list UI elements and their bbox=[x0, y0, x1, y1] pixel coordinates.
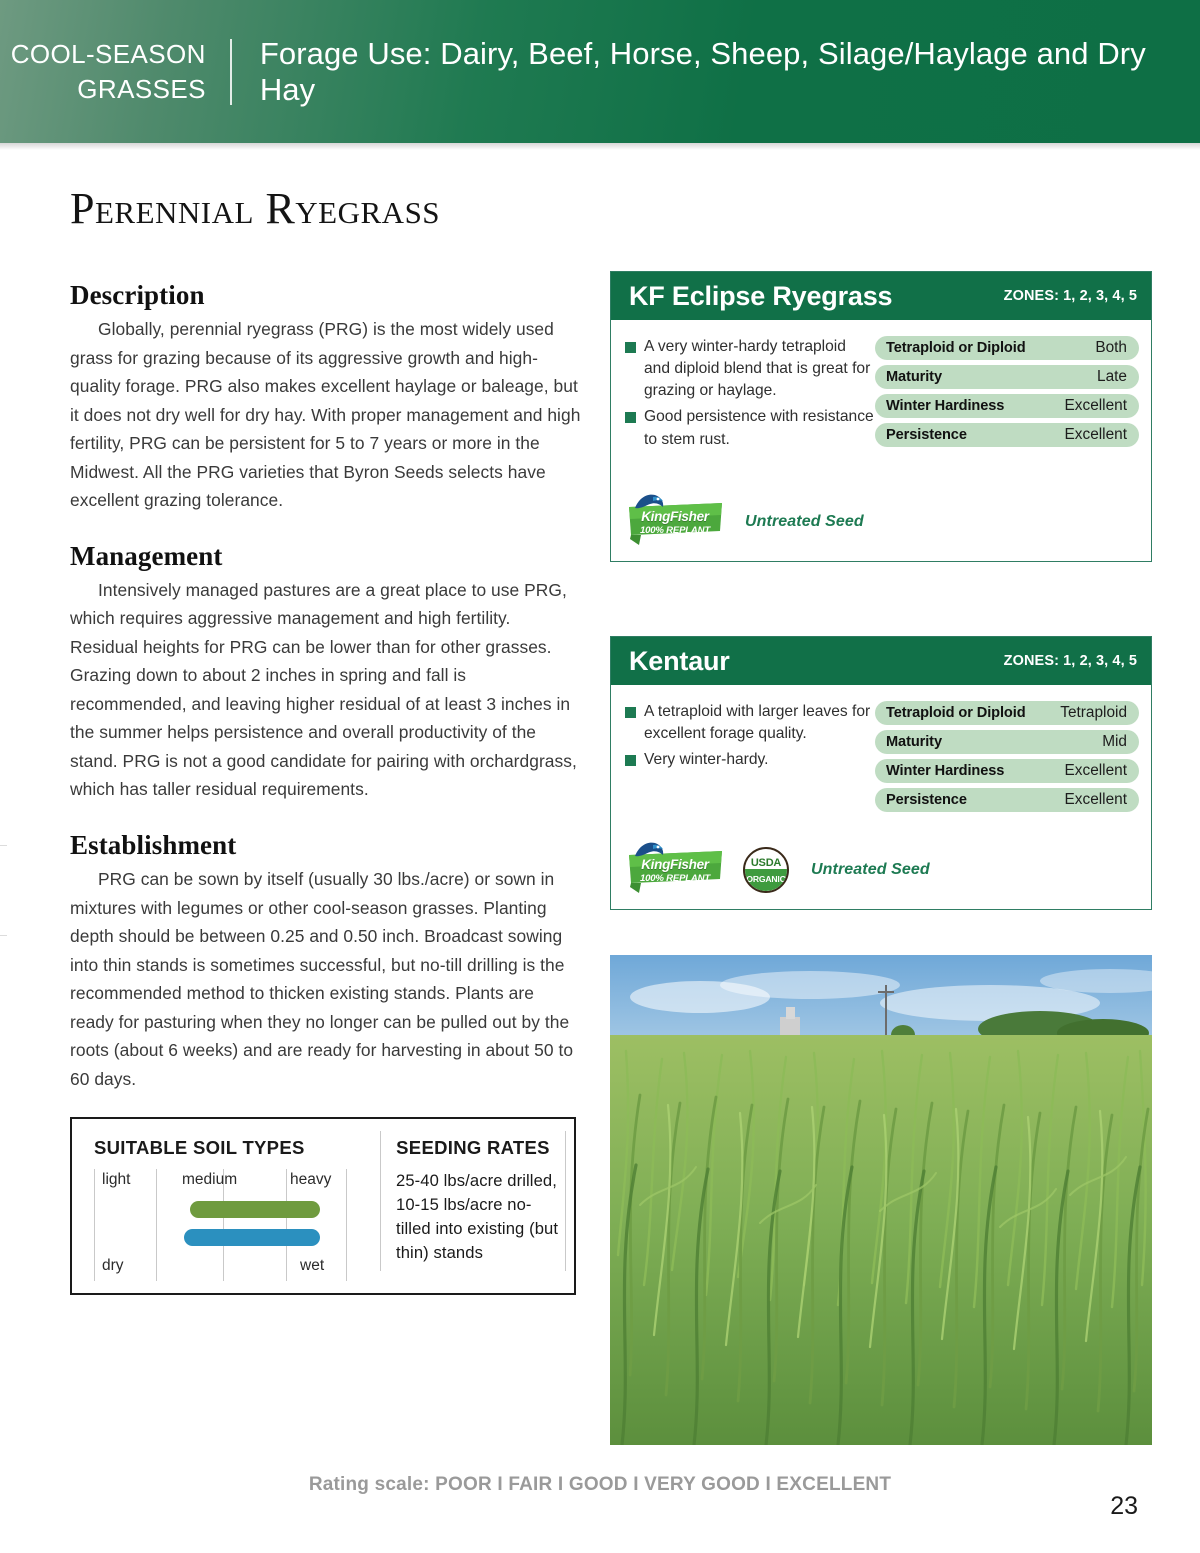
kingfisher-logo: KingFisher 100% REPLANT bbox=[627, 847, 723, 893]
soil-and-seeding-box: SUITABLE SOIL TYPES light medium heavy d… bbox=[70, 1117, 576, 1295]
rating-scale-legend: Rating scale: POOR I FAIR I GOOD I VERY … bbox=[0, 1474, 1200, 1496]
variety-card-kentaur: Kentaur ZONES: 1, 2, 3, 4, 5 A tetraploi… bbox=[610, 636, 1152, 910]
spec-label: Tetraploid or Diploid bbox=[886, 705, 1026, 721]
print-edge-mark bbox=[0, 845, 7, 846]
untreated-seed-label: Untreated Seed bbox=[811, 861, 930, 879]
table-row: Tetraploid or Diploid Tetraploid bbox=[875, 701, 1139, 725]
spec-label: Persistence bbox=[886, 792, 967, 808]
spec-value: Mid bbox=[1102, 733, 1127, 751]
kingfisher-replant-text: 100% REPLANT bbox=[627, 873, 723, 884]
spec-value: Late bbox=[1097, 368, 1127, 386]
banner-shadow bbox=[0, 143, 1200, 150]
card-body: A very winter-hardy tetraploid and diplo… bbox=[611, 320, 1151, 459]
document-page: COOL-SEASON GRASSES Forage Use: Dairy, B… bbox=[0, 0, 1200, 1553]
print-edge-mark bbox=[0, 935, 7, 936]
spec-value: Tetraploid bbox=[1060, 704, 1127, 722]
page-number: 23 bbox=[1110, 1492, 1138, 1521]
card-header: KF Eclipse Ryegrass ZONES: 1, 2, 3, 4, 5 bbox=[611, 272, 1151, 320]
section-management: Management Intensively managed pastures … bbox=[70, 541, 582, 804]
soil-label-medium: medium bbox=[182, 1171, 237, 1189]
table-row: Maturity Mid bbox=[875, 730, 1139, 754]
soil-axis-line bbox=[94, 1169, 95, 1281]
card-footer-badges: KingFisher 100% REPLANT Untreated Seed bbox=[611, 459, 1151, 561]
field-photo-illustration bbox=[610, 955, 1152, 1445]
untreated-seed-label: Untreated Seed bbox=[745, 513, 864, 531]
spec-value: Both bbox=[1095, 339, 1127, 357]
square-bullet-icon bbox=[625, 342, 636, 353]
page-title: Perennial Ryegrass bbox=[70, 183, 440, 234]
list-item: Very winter-hardy. bbox=[625, 749, 875, 771]
spec-value: Excellent bbox=[1065, 791, 1127, 809]
spec-label: Tetraploid or Diploid bbox=[886, 340, 1026, 356]
card-zones-badge: ZONES: 1, 2, 3, 4, 5 bbox=[1004, 288, 1137, 304]
banner-kicker-line2: GRASSES bbox=[0, 72, 206, 106]
card-spec-table: Tetraploid or Diploid Both Maturity Late… bbox=[875, 334, 1139, 455]
kingfisher-wordmark: KingFisher bbox=[627, 857, 723, 872]
card-footer-badges: KingFisher 100% REPLANT USDA ORGANIC Unt… bbox=[611, 821, 1151, 909]
soil-axis-line bbox=[156, 1169, 157, 1281]
card-spec-table: Tetraploid or Diploid Tetraploid Maturit… bbox=[875, 699, 1139, 817]
soil-types-chart: light medium heavy dry wet bbox=[94, 1169, 368, 1287]
table-row: Tetraploid or Diploid Both bbox=[875, 336, 1139, 360]
section-heading: Description bbox=[70, 280, 582, 311]
spec-label: Maturity bbox=[886, 369, 942, 385]
bullet-text: A tetraploid with larger leaves for exce… bbox=[644, 701, 875, 745]
list-item: A very winter-hardy tetraploid and diplo… bbox=[625, 336, 875, 402]
list-item: Good persistence with resistance to stem… bbox=[625, 406, 875, 450]
variety-card-kf-eclipse-ryegrass: KF Eclipse Ryegrass ZONES: 1, 2, 3, 4, 5… bbox=[610, 271, 1152, 562]
spec-label: Winter Hardiness bbox=[886, 398, 1004, 414]
kingfisher-wordmark: KingFisher bbox=[627, 509, 723, 524]
kingfisher-replant-text: 100% REPLANT bbox=[627, 525, 723, 536]
panel-divider bbox=[565, 1131, 566, 1271]
card-body: A tetraploid with larger leaves for exce… bbox=[611, 685, 1151, 821]
soil-label-dry: dry bbox=[102, 1257, 124, 1275]
soil-label-wet: wet bbox=[300, 1257, 324, 1275]
seeding-rates-heading: SEEDING RATES bbox=[396, 1137, 564, 1159]
seeding-rates-text: 25-40 lbs/acre drilled, 10-15 lbs/acre n… bbox=[396, 1169, 564, 1265]
soil-label-light: light bbox=[102, 1171, 130, 1189]
soil-moisture-bar bbox=[184, 1229, 320, 1246]
section-description: Description Globally, perennial ryegrass… bbox=[70, 280, 582, 515]
banner-title: Forage Use: Dairy, Beef, Horse, Sheep, S… bbox=[232, 36, 1200, 108]
field-photo bbox=[610, 955, 1152, 1445]
page-banner: COOL-SEASON GRASSES Forage Use: Dairy, B… bbox=[0, 0, 1200, 143]
card-zones-badge: ZONES: 1, 2, 3, 4, 5 bbox=[1004, 653, 1137, 669]
soil-types-heading: SUITABLE SOIL TYPES bbox=[94, 1137, 368, 1159]
table-row: Maturity Late bbox=[875, 365, 1139, 389]
soil-axis-line bbox=[286, 1169, 287, 1281]
panel-divider bbox=[380, 1131, 381, 1271]
square-bullet-icon bbox=[625, 755, 636, 766]
section-paragraph: PRG can be sown by itself (usually 30 lb… bbox=[70, 865, 582, 1093]
spec-value: Excellent bbox=[1065, 397, 1127, 415]
article-body: Description Globally, perennial ryegrass… bbox=[70, 280, 582, 1119]
section-paragraph: Globally, perennial ryegrass (PRG) is th… bbox=[70, 315, 582, 515]
square-bullet-icon bbox=[625, 412, 636, 423]
bullet-text: Good persistence with resistance to stem… bbox=[644, 406, 875, 450]
soil-axis-line bbox=[346, 1169, 347, 1281]
spec-value: Excellent bbox=[1065, 426, 1127, 444]
usda-seal-line1: USDA bbox=[745, 857, 787, 869]
section-heading: Establishment bbox=[70, 830, 582, 861]
banner-kicker: COOL-SEASON GRASSES bbox=[0, 37, 230, 106]
card-bullet-list: A very winter-hardy tetraploid and diplo… bbox=[625, 334, 875, 455]
spec-label: Persistence bbox=[886, 427, 967, 443]
seeding-rates-panel: SEEDING RATES 25-40 lbs/acre drilled, 10… bbox=[380, 1119, 574, 1293]
section-establishment: Establishment PRG can be sown by itself … bbox=[70, 830, 582, 1093]
usda-organic-seal-icon: USDA ORGANIC bbox=[743, 847, 789, 893]
suitable-soil-types-panel: SUITABLE SOIL TYPES light medium heavy d… bbox=[72, 1119, 380, 1293]
bullet-text: Very winter-hardy. bbox=[644, 749, 769, 771]
spec-label: Winter Hardiness bbox=[886, 763, 1004, 779]
list-item: A tetraploid with larger leaves for exce… bbox=[625, 701, 875, 745]
section-paragraph: Intensively managed pastures are a great… bbox=[70, 576, 582, 804]
card-variety-name: KF Eclipse Ryegrass bbox=[629, 281, 892, 312]
banner-kicker-line1: COOL-SEASON bbox=[0, 37, 206, 71]
soil-texture-bar bbox=[190, 1201, 320, 1218]
table-row: Persistence Excellent bbox=[875, 423, 1139, 447]
kingfisher-logo: KingFisher 100% REPLANT bbox=[627, 499, 723, 545]
card-variety-name: Kentaur bbox=[629, 646, 730, 677]
usda-seal-line2: ORGANIC bbox=[745, 874, 787, 884]
section-heading: Management bbox=[70, 541, 582, 572]
spec-label: Maturity bbox=[886, 734, 942, 750]
table-row: Winter Hardiness Excellent bbox=[875, 759, 1139, 783]
bullet-text: A very winter-hardy tetraploid and diplo… bbox=[644, 336, 875, 402]
table-row: Persistence Excellent bbox=[875, 788, 1139, 812]
spec-value: Excellent bbox=[1065, 762, 1127, 780]
square-bullet-icon bbox=[625, 707, 636, 718]
card-header: Kentaur ZONES: 1, 2, 3, 4, 5 bbox=[611, 637, 1151, 685]
soil-label-heavy: heavy bbox=[290, 1171, 331, 1189]
card-bullet-list: A tetraploid with larger leaves for exce… bbox=[625, 699, 875, 817]
table-row: Winter Hardiness Excellent bbox=[875, 394, 1139, 418]
